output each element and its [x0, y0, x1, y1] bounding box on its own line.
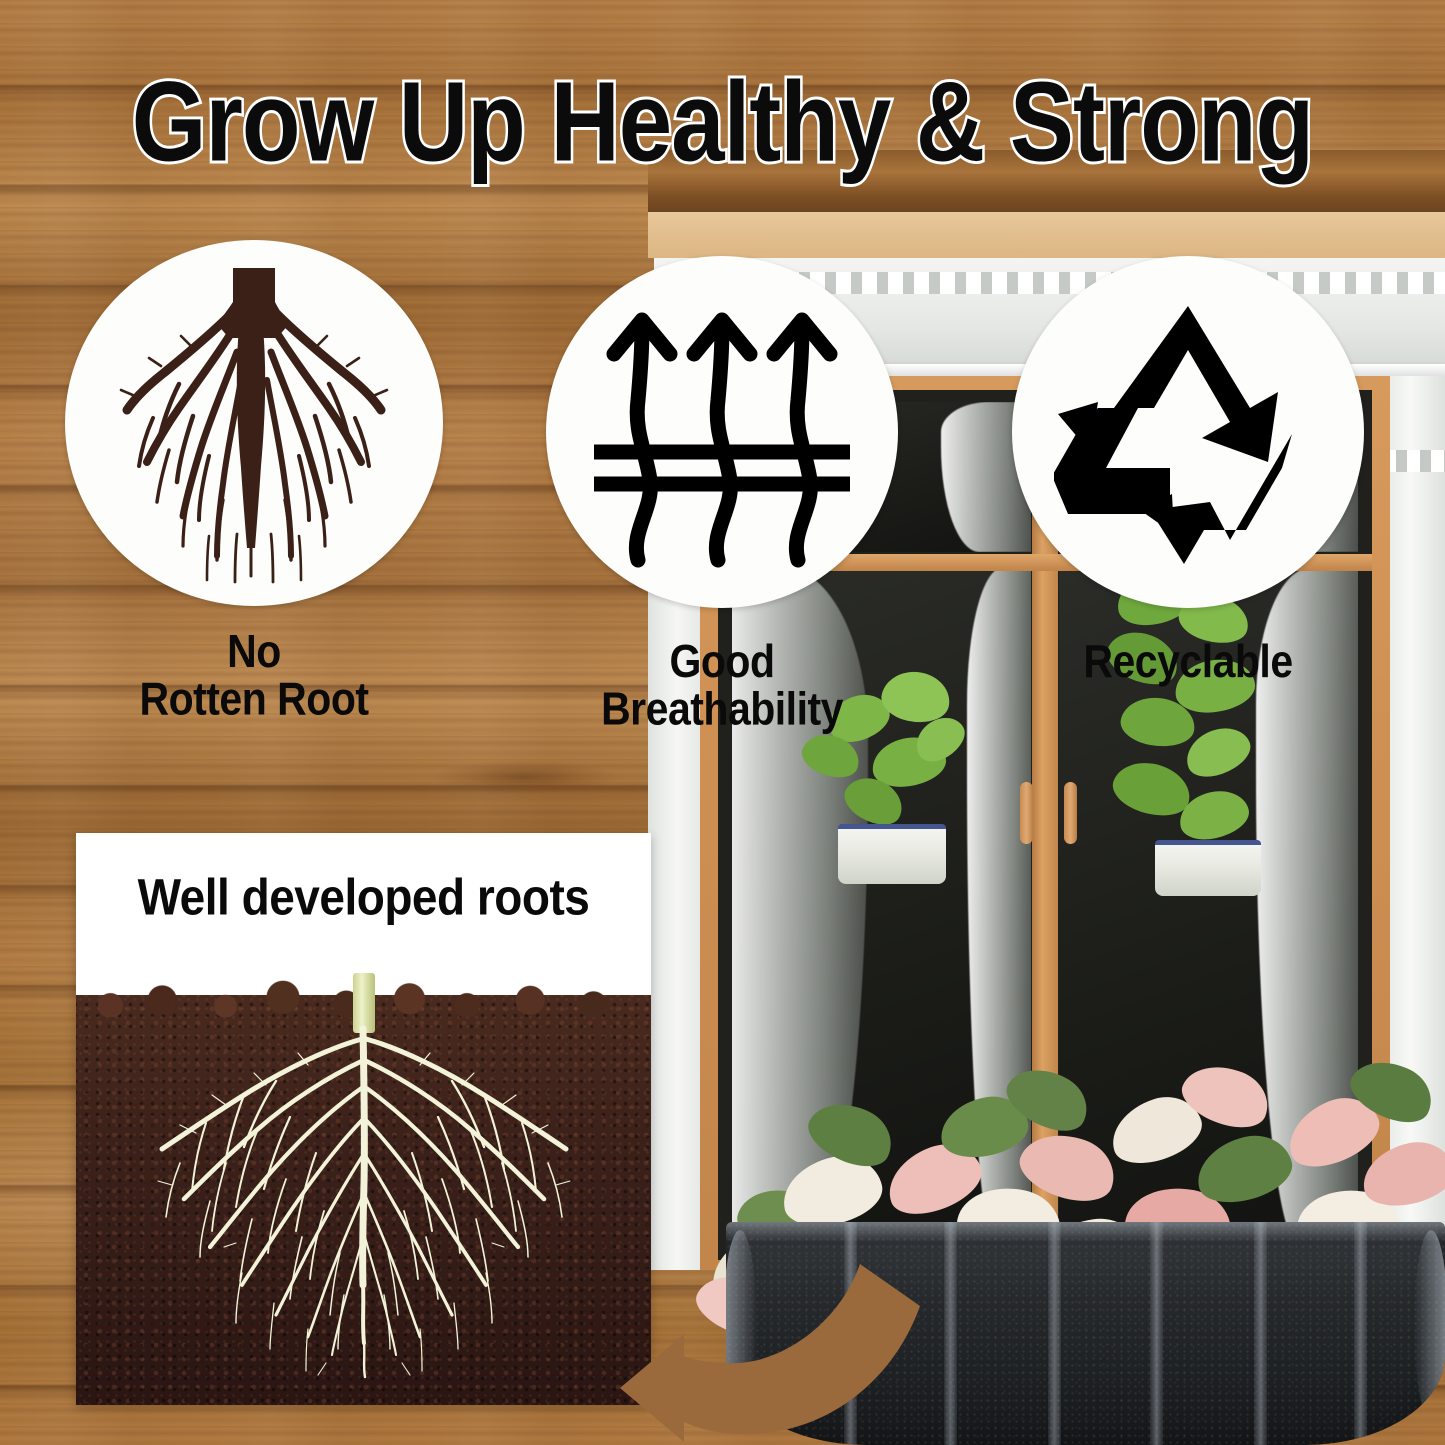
- feature-no-rotten-root: No Rotten Root: [65, 240, 443, 702]
- soffit: [648, 212, 1445, 258]
- planter-strap-rib: [1254, 1222, 1267, 1445]
- product-marketing-image: Well developed roots: [0, 0, 1445, 1445]
- recycle-icon: [1054, 302, 1322, 564]
- breathability-arrows-icon: [594, 292, 850, 572]
- page-title: Grow Up Healthy & Strong: [0, 58, 1445, 188]
- dentil-molding-right: [1383, 450, 1445, 472]
- planter-right-edge: [1414, 1230, 1445, 1420]
- feature-label-good-breathability: Good Breathability: [546, 638, 898, 733]
- planter-strap-rib: [1354, 1222, 1367, 1445]
- feature-label-line2: Breathability: [601, 682, 843, 734]
- flower-pot: [838, 824, 946, 884]
- feature-label-recyclable: Recyclable: [1012, 638, 1364, 686]
- window-handle-left: [1020, 782, 1033, 844]
- well-developed-roots-panel: Well developed roots: [76, 833, 651, 1405]
- feature-label-line1: Recyclable: [1083, 635, 1292, 687]
- window-handle-right: [1064, 782, 1077, 844]
- feature-label-line1: Good: [669, 635, 774, 687]
- feature-label-line2: Rotten Root: [139, 672, 368, 724]
- curved-arrow-pointing-left: [598, 1248, 928, 1445]
- planter-strap-rib: [944, 1222, 957, 1445]
- fibrous-root-network-illustration: [76, 833, 651, 1405]
- planter-rim: [726, 1222, 1445, 1242]
- feature-label-line1: No: [227, 625, 281, 677]
- flower-pot: [1155, 840, 1261, 896]
- wood-knot: [430, 760, 620, 794]
- planter-strap-rib: [1048, 1222, 1061, 1445]
- feature-recyclable: Recyclable: [1012, 256, 1364, 716]
- feature-label-no-rotten-root: No Rotten Root: [65, 628, 443, 723]
- root-system-icon: [113, 268, 395, 584]
- planter-strap-rib: [1150, 1222, 1163, 1445]
- feature-good-breathability: Good Breathability: [546, 256, 898, 716]
